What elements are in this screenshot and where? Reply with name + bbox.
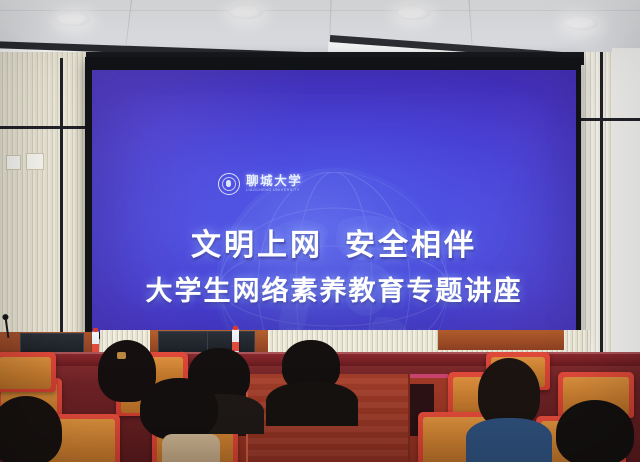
audience-person-shoulders bbox=[266, 382, 358, 426]
presenter-desk bbox=[438, 330, 564, 350]
university-seal-icon bbox=[218, 173, 240, 195]
lecture-hall-photo: 聊城大学 LIAOCHENG UNIVERSITY 文明上网安全相伴 大学生网络… bbox=[0, 0, 640, 462]
wall-sign bbox=[26, 153, 44, 170]
auditorium-chair bbox=[0, 352, 56, 392]
ceiling-seam bbox=[468, 0, 472, 44]
slide-title-main-left: 文明上网 bbox=[191, 229, 323, 262]
recessed-downlight-icon bbox=[396, 7, 430, 20]
presenter-monitor bbox=[158, 331, 208, 354]
bottle-cap bbox=[233, 326, 238, 330]
slide-title-main-right: 安全相伴 bbox=[345, 229, 477, 262]
recessed-downlight-icon bbox=[564, 17, 598, 30]
wall-sign bbox=[6, 155, 21, 170]
audience-person bbox=[556, 400, 634, 462]
slide-title-main: 文明上网安全相伴 bbox=[92, 220, 576, 264]
recessed-downlight-icon bbox=[229, 6, 263, 19]
university-name-cn: 聊城大学 bbox=[246, 175, 302, 188]
handbag bbox=[162, 434, 220, 462]
wall-trim-horizontal bbox=[578, 118, 640, 121]
ceiling-seam bbox=[329, 0, 331, 36]
wall-trim-vertical bbox=[60, 58, 63, 352]
slide-title-sub: 大学生网络素养教育专题讲座 bbox=[92, 269, 576, 308]
university-name-en: LIAOCHENG UNIVERSITY bbox=[246, 189, 302, 193]
bottle-cap bbox=[93, 328, 98, 332]
wall-trim-vertical bbox=[600, 52, 603, 352]
audience-person-shoulders bbox=[466, 418, 552, 462]
recessed-downlight-icon bbox=[56, 13, 90, 26]
audience-person bbox=[140, 378, 218, 440]
hair-clip bbox=[117, 352, 126, 359]
ceiling-seam bbox=[125, 0, 132, 50]
university-logo: 聊城大学 LIAOCHENG UNIVERSITY bbox=[218, 173, 302, 195]
ceiling-seam bbox=[0, 10, 640, 11]
led-screen: 聊城大学 LIAOCHENG UNIVERSITY 文明上网安全相伴 大学生网络… bbox=[92, 70, 576, 332]
side-wall-far-right bbox=[612, 48, 640, 368]
